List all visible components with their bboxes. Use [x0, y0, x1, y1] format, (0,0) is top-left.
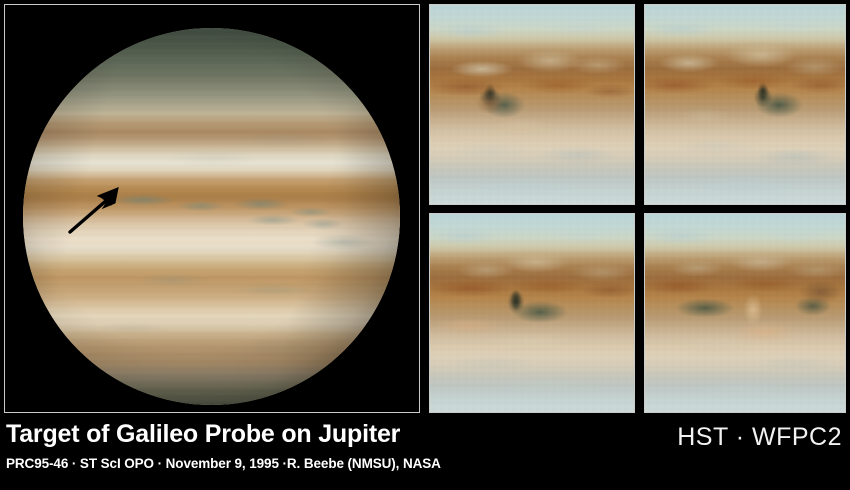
closeup-texture-2: [645, 5, 845, 204]
jupiter-disk: [23, 28, 400, 405]
full-disk-image: [5, 5, 419, 412]
closeup-image-1: [430, 5, 634, 204]
closeup-image-2: [645, 5, 845, 204]
closeup-texture-1: [430, 5, 634, 204]
instrument-label: HST · WFPC2: [677, 423, 842, 452]
closeup-image-3: [430, 214, 634, 412]
caption-bar: Target of Galileo Probe on Jupiter HST ·…: [0, 415, 850, 490]
panel-full-disk-jupiter: [4, 4, 420, 413]
credit-line: PRC95-46 · ST ScI OPO · November 9, 1995…: [6, 456, 441, 471]
page-title: Target of Galileo Probe on Jupiter: [6, 420, 400, 449]
panel-closeup-bottom-left: [429, 213, 635, 413]
closeup-image-4: [645, 214, 845, 412]
panel-closeup-top-left: [429, 4, 635, 205]
closeup-texture-3: [430, 214, 634, 412]
panel-closeup-top-right: [644, 4, 846, 205]
jupiter-terminator-shading: [23, 28, 400, 405]
closeup-texture-4: [645, 214, 845, 412]
panel-closeup-bottom-right: [644, 213, 846, 413]
press-release-poster: Target of Galileo Probe on Jupiter HST ·…: [0, 0, 850, 490]
